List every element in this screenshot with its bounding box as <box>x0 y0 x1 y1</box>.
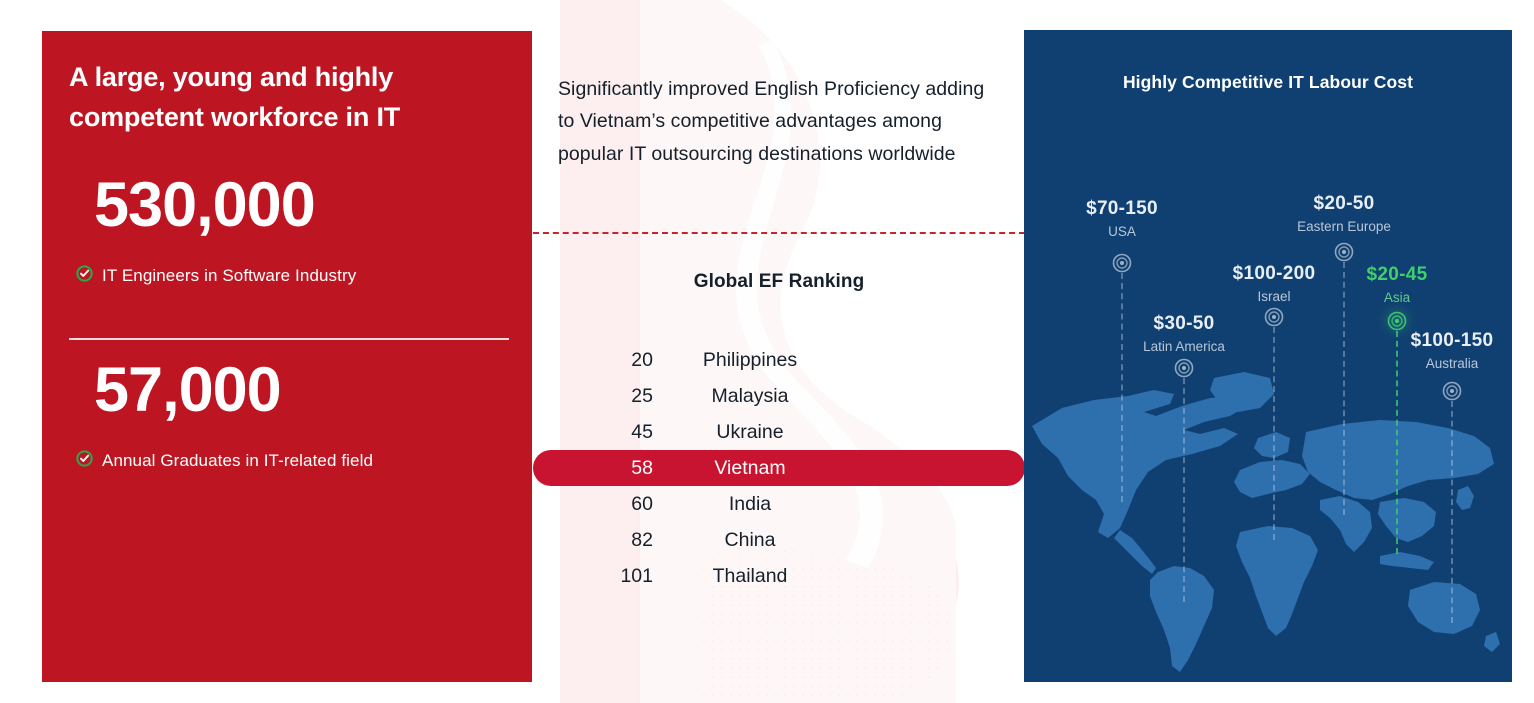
english-proficiency-panel: Significantly improved English Proficien… <box>533 31 1025 682</box>
ranking-number: 58 <box>533 457 663 480</box>
marker-connector-line <box>1183 378 1185 602</box>
it-labour-cost-panel: Highly Competitive IT Labour Cost <box>1024 30 1512 682</box>
stat-number: 57,000 <box>94 359 509 422</box>
region-name: Israel <box>1233 289 1316 305</box>
marker-connector-line <box>1121 273 1123 502</box>
ranking-number: 20 <box>533 349 663 372</box>
ranking-number: 60 <box>533 493 663 516</box>
labour-cost-title: Highly Competitive IT Labour Cost <box>1024 72 1512 93</box>
marker-connector-line <box>1451 401 1453 623</box>
marker-connector-line <box>1273 327 1275 540</box>
stat-block-it-engineers: 530,000 IT Engineers in Software Industr… <box>69 174 509 287</box>
table-row[interactable]: 25Malaysia <box>533 378 1025 414</box>
workforce-heading: A large, young and highly competent work… <box>69 58 499 137</box>
ranking-row-highlighted[interactable]: 58Vietnam <box>533 450 1025 486</box>
ranking-country: India <box>663 493 1025 516</box>
region-name: Asia <box>1367 290 1428 306</box>
marker-connector-line <box>1396 331 1398 554</box>
cost-label-latin-america: $30-50Latin America <box>1143 313 1225 355</box>
stat-caption: Annual Graduates in IT-related field <box>102 451 373 471</box>
ranking-number: 101 <box>533 565 663 588</box>
region-name: USA <box>1086 224 1158 240</box>
cost-label-usa: $70-150USA <box>1086 198 1158 240</box>
stat-caption-row: Annual Graduates in IT-related field <box>76 450 509 472</box>
stat-caption: IT Engineers in Software Industry <box>102 266 356 286</box>
region-name: Eastern Europe <box>1297 219 1391 235</box>
map-pin-icon-highlighted[interactable] <box>1387 311 1407 331</box>
english-proficiency-description: Significantly improved English Proficien… <box>558 73 1006 170</box>
map-pin-icon[interactable] <box>1334 242 1354 262</box>
map-pin-icon[interactable] <box>1112 253 1132 273</box>
ranking-title: Global EF Ranking <box>533 271 1025 293</box>
ranking-number: 82 <box>533 529 663 552</box>
cost-label-eastern-europe: $20-50Eastern Europe <box>1297 193 1391 235</box>
ranking-number: 25 <box>533 385 663 408</box>
check-circle-icon <box>76 450 93 472</box>
ranking-country: China <box>663 529 1025 552</box>
table-row[interactable]: 101Thailand <box>533 558 1025 594</box>
cost-range: $30-50 <box>1143 313 1225 336</box>
map-pin-icon[interactable] <box>1264 307 1284 327</box>
check-circle-icon <box>76 265 93 287</box>
region-name: Australia <box>1411 356 1494 372</box>
ranking-country: Vietnam <box>663 457 1025 480</box>
cost-label-asia: $20-45Asia <box>1367 264 1428 306</box>
marker-connector-line <box>1343 262 1345 515</box>
cost-range: $100-150 <box>1411 330 1494 353</box>
panel-divider <box>69 338 509 340</box>
stat-caption-row: IT Engineers in Software Industry <box>76 265 509 287</box>
cost-range: $100-200 <box>1233 263 1316 286</box>
cost-label-israel: $100-200Israel <box>1233 263 1316 305</box>
global-ef-ranking-list: 20Philippines25Malaysia45Ukraine58Vietna… <box>533 342 1025 594</box>
cost-label-australia: $100-150Australia <box>1411 330 1494 372</box>
stat-block-annual-graduates: 57,000 Annual Graduates in IT-related fi… <box>69 359 509 472</box>
ranking-country: Ukraine <box>663 421 1025 444</box>
region-name: Latin America <box>1143 339 1225 355</box>
table-row[interactable]: 60India <box>533 486 1025 522</box>
cost-range: $20-45 <box>1367 264 1428 287</box>
ranking-number: 45 <box>533 421 663 444</box>
ranking-country: Philippines <box>663 349 1025 372</box>
workforce-panel: A large, young and highly competent work… <box>42 31 532 682</box>
map-pin-icon[interactable] <box>1174 358 1194 378</box>
map-pin-icon[interactable] <box>1442 381 1462 401</box>
world-map <box>1024 360 1512 682</box>
table-row[interactable]: 45Ukraine <box>533 414 1025 450</box>
ranking-country: Thailand <box>663 565 1025 588</box>
stat-number: 530,000 <box>94 174 509 237</box>
cost-range: $70-150 <box>1086 198 1158 221</box>
ranking-country: Malaysia <box>663 385 1025 408</box>
table-row[interactable]: 20Philippines <box>533 342 1025 378</box>
cost-range: $20-50 <box>1297 193 1391 216</box>
table-row[interactable]: 82China <box>533 522 1025 558</box>
dashed-divider <box>533 232 1025 234</box>
